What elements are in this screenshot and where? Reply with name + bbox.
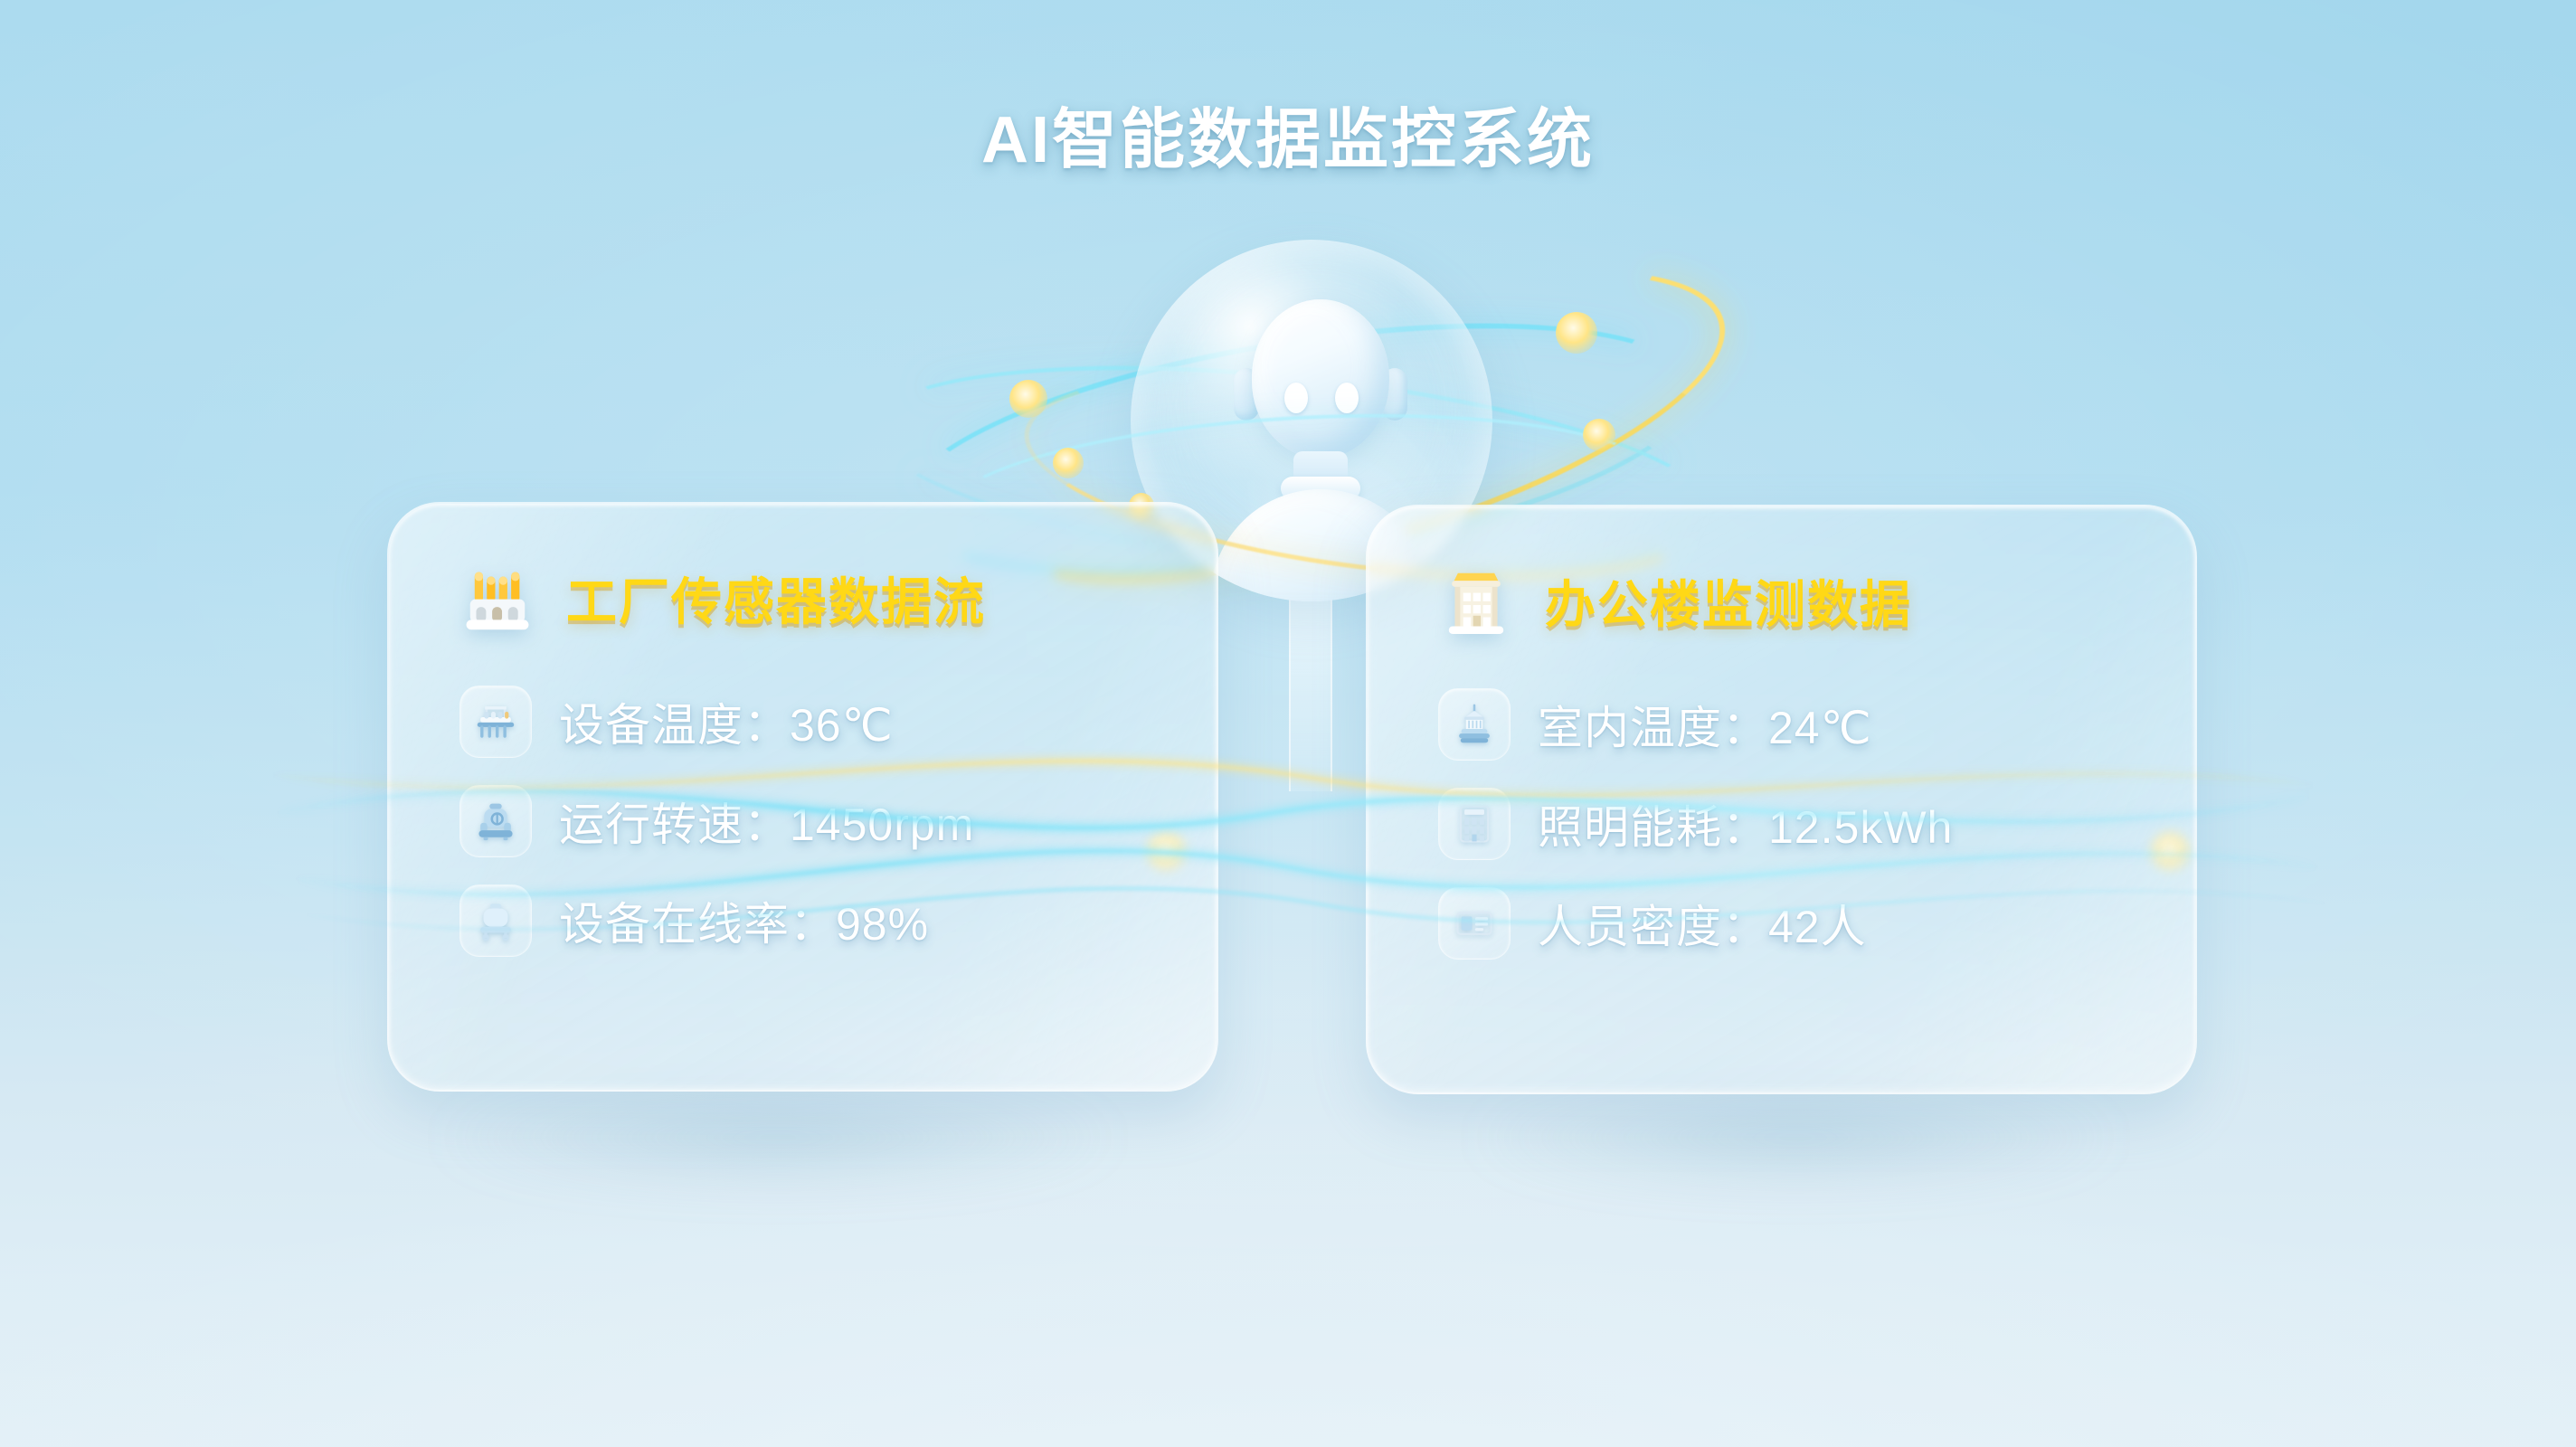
factory-card-heading: 工厂传感器数据流 (566, 562, 986, 635)
robot-eye-left (1284, 383, 1308, 413)
office-building-icon (1438, 563, 1514, 638)
factory-row-temperature[interactable]: 设备温度：36℃ (459, 672, 1217, 771)
office-card-header: 办公楼监测数据 (1438, 563, 2195, 638)
orbit-node-icon-1 (1009, 380, 1047, 418)
office-occupancy-value: 人员密度：42人 (1538, 891, 1867, 956)
orb-pedestal (1289, 583, 1332, 791)
office-row-occupancy[interactable]: 人员密度：42人 (1438, 874, 2195, 973)
orbit-node-icon-5 (1583, 419, 1615, 451)
robot-eye-right (1335, 383, 1359, 413)
office-lighting-value: 照明能耗：12.5kWh (1538, 791, 1953, 856)
factory-row-uptime[interactable]: 设备在线率：98% (459, 871, 1217, 970)
office-building-card[interactable]: 办公楼监测数据 室内温度：24℃ (1366, 505, 2197, 1094)
factory-card-header: 工厂传感器数据流 (459, 560, 1217, 636)
office-row-lighting[interactable]: 照明能耗：12.5kWh (1438, 774, 2195, 874)
factory-icon (459, 560, 535, 636)
factory-uptime-value: 设备在线率：98% (559, 888, 929, 953)
orbit-node-icon-2 (1053, 448, 1084, 478)
office-row-temperature[interactable]: 室内温度：24℃ (1438, 675, 2195, 774)
scene-root: AI智能数据监控系统 (0, 0, 2576, 1447)
page-title: AI智能数据监控系统 (0, 86, 2576, 181)
indoor-climate-icon (1438, 688, 1511, 761)
left-card-floor-shadow (298, 1083, 1257, 1219)
robot-head (1252, 299, 1389, 459)
factory-row-speed[interactable]: 运行转速：1450rpm (459, 771, 1217, 871)
office-card-heading: 办公楼监测数据 (1545, 564, 1912, 638)
office-temperature-value: 室内温度：24℃ (1538, 692, 1872, 757)
building-lighting-icon (1438, 788, 1511, 860)
factory-temperature-value: 设备温度：36℃ (559, 689, 894, 754)
right-card-floor-shadow (1339, 1083, 2252, 1219)
factory-speed-value: 运行转速：1450rpm (559, 789, 974, 854)
machine-engine-icon (459, 785, 532, 857)
occupancy-card-icon (1438, 887, 1511, 960)
equipment-status-icon (459, 884, 532, 957)
factory-sensor-card[interactable]: 工厂传感器数据流 设备温度：36℃ (387, 502, 1218, 1092)
conveyor-line-icon (459, 686, 532, 758)
orbit-node-icon-4 (1556, 312, 1597, 354)
